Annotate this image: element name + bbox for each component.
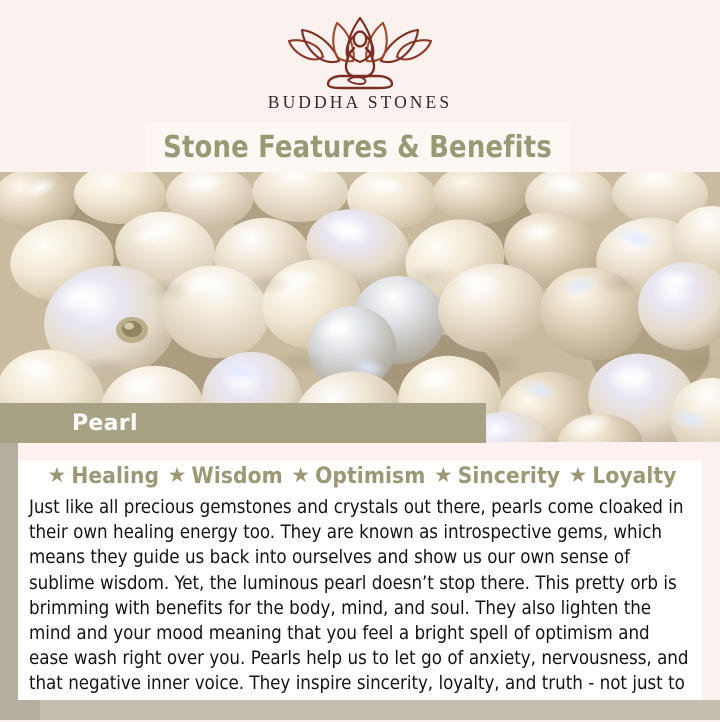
bottom-band-left-shade	[0, 700, 40, 720]
star-icon: ★	[434, 463, 453, 488]
pearl-photo	[0, 172, 720, 442]
lotus-meditation-icon	[285, 14, 435, 90]
keyword-wisdom: Wisdom	[191, 463, 282, 489]
star-icon: ★	[569, 463, 588, 488]
description-paragraph: Just like all precious gemstones and cry…	[29, 495, 691, 722]
brand-wordmark: BUDDHA STONES	[268, 92, 452, 113]
keyword-sincerity: Sincerity	[458, 463, 560, 489]
keyword-loyalty: Loyalty	[592, 463, 676, 489]
keyword-healing: Healing	[71, 463, 159, 489]
bottom-band	[0, 700, 720, 720]
content-left-edge	[0, 443, 18, 701]
content-panel: ★Healing ★Wisdom ★Optimism ★Sincerity ★L…	[18, 443, 702, 701]
keyword-list: ★Healing ★Wisdom ★Optimism ★Sincerity ★L…	[18, 463, 702, 489]
content-top-tint	[18, 443, 702, 461]
brand-logo: BUDDHA STONES	[0, 14, 720, 124]
page-title: Stone Features & Benefits	[163, 130, 552, 165]
keyword-optimism: Optimism	[315, 463, 425, 489]
star-icon: ★	[48, 463, 67, 488]
pearl-caption-label: Pearl	[72, 411, 138, 436]
page-title-banner: Stone Features & Benefits	[145, 122, 570, 172]
pearl-caption-bar: Pearl	[0, 403, 486, 443]
star-icon: ★	[291, 463, 310, 488]
star-icon: ★	[168, 463, 187, 488]
